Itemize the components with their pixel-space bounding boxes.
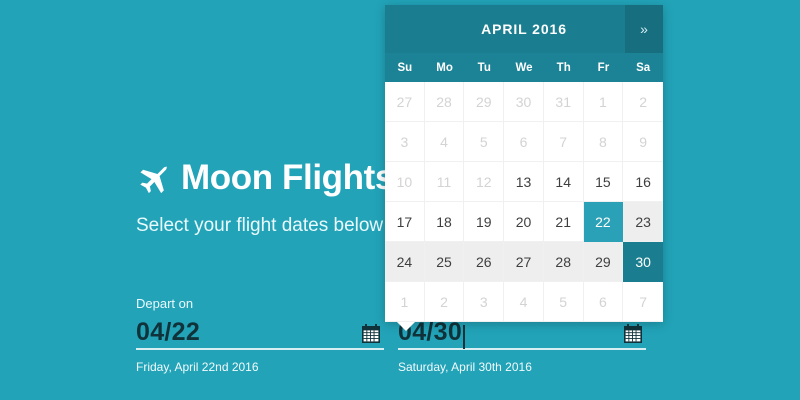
datepicker-weekday-row: SuMoTuWeThFrSa [385, 53, 663, 82]
calendar-day: 27 [385, 82, 425, 122]
calendar-day: 11 [425, 162, 465, 202]
depart-input-row[interactable]: 04/22 [136, 316, 384, 350]
calendar-day: 5 [544, 282, 584, 322]
calendar-day[interactable]: 23 [623, 202, 663, 242]
depart-date-input[interactable]: 04/22 [136, 318, 200, 346]
calendar-day: 29 [464, 82, 504, 122]
datepicker-popup[interactable]: APRIL 2016 » SuMoTuWeThFrSa 272829303112… [385, 5, 663, 322]
weekday-we: We [504, 53, 544, 82]
calendar-day: 2 [623, 82, 663, 122]
weekday-mo: Mo [425, 53, 465, 82]
calendar-day[interactable]: 24 [385, 242, 425, 282]
calendar-day[interactable]: 13 [504, 162, 544, 202]
weekday-th: Th [544, 53, 584, 82]
depart-field-label: Depart on [136, 296, 384, 312]
calendar-day: 6 [584, 282, 624, 322]
weekday-sa: Sa [623, 53, 663, 82]
calendar-day: 7 [544, 122, 584, 162]
calendar-day: 3 [464, 282, 504, 322]
calendar-day: 12 [464, 162, 504, 202]
calendar-day: 28 [425, 82, 465, 122]
calendar-icon[interactable] [360, 323, 382, 345]
app-stage: Moon Flights Select your flight dates be… [0, 0, 800, 400]
calendar-day: 8 [584, 122, 624, 162]
depart-field-help: Friday, April 22nd 2016 [136, 359, 384, 375]
airplane-icon [136, 165, 170, 195]
calendar-day[interactable]: 17 [385, 202, 425, 242]
calendar-day[interactable]: 20 [504, 202, 544, 242]
datepicker-day-grid[interactable]: 2728293031123456789101112131415161718192… [385, 82, 663, 322]
calendar-day: 1 [584, 82, 624, 122]
calendar-day: 4 [504, 282, 544, 322]
calendar-day: 6 [504, 122, 544, 162]
return-field-help: Saturday, April 30th 2016 [398, 359, 646, 375]
calendar-day: 31 [544, 82, 584, 122]
calendar-day: 1 [385, 282, 425, 322]
calendar-day[interactable]: 25 [425, 242, 465, 282]
calendar-icon[interactable] [622, 323, 644, 345]
calendar-day: 7 [623, 282, 663, 322]
calendar-day[interactable]: 27 [504, 242, 544, 282]
calendar-day[interactable]: 30 [623, 242, 663, 282]
text-caret [463, 325, 465, 349]
datepicker-month-title: APRIL 2016 [385, 5, 625, 53]
calendar-day: 4 [425, 122, 465, 162]
calendar-day[interactable]: 22 [584, 202, 624, 242]
calendar-day: 30 [504, 82, 544, 122]
calendar-day[interactable]: 21 [544, 202, 584, 242]
calendar-day: 9 [623, 122, 663, 162]
page-title-text: Moon Flights [181, 158, 394, 198]
calendar-day: 2 [425, 282, 465, 322]
calendar-day: 5 [464, 122, 504, 162]
calendar-day[interactable]: 18 [425, 202, 465, 242]
calendar-day[interactable]: 14 [544, 162, 584, 202]
calendar-day: 10 [385, 162, 425, 202]
datepicker-header: APRIL 2016 » [385, 5, 663, 53]
calendar-day[interactable]: 28 [544, 242, 584, 282]
calendar-day[interactable]: 19 [464, 202, 504, 242]
depart-field-group: Depart on 04/22 Friday, April 22nd 2016 [136, 296, 384, 375]
weekday-fr: Fr [584, 53, 624, 82]
calendar-day[interactable]: 15 [584, 162, 624, 202]
calendar-day: 3 [385, 122, 425, 162]
datepicker-pointer [397, 322, 415, 331]
calendar-day[interactable]: 16 [623, 162, 663, 202]
weekday-su: Su [385, 53, 425, 82]
calendar-day[interactable]: 29 [584, 242, 624, 282]
calendar-day[interactable]: 26 [464, 242, 504, 282]
weekday-tu: Tu [464, 53, 504, 82]
chevron-right-double-icon[interactable]: » [625, 5, 663, 53]
